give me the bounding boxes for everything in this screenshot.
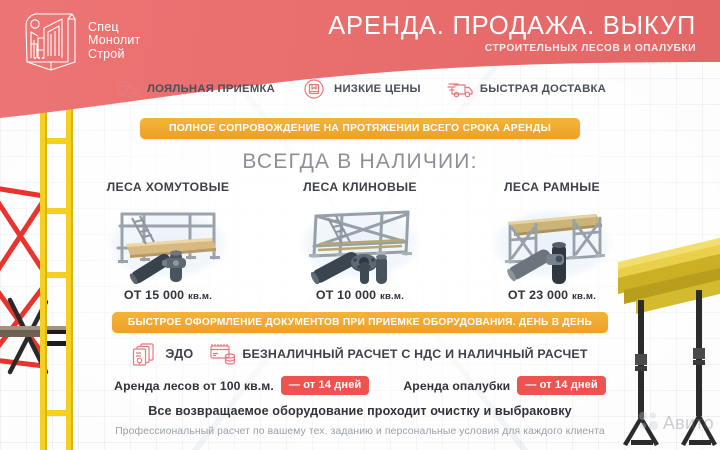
term-text: Аренда опалубки: [403, 379, 510, 393]
page-title: АРЕНДА. ПРОДАЖА. ВЫКУП: [328, 11, 696, 41]
note-professional-calculation: Профессиональный расчет по вашему тех. з…: [0, 426, 720, 437]
price-value: ОТ 23 000: [508, 288, 568, 302]
product-wedge-scaffolding: ЛЕСА КЛИНОВЫЕ: [270, 180, 450, 302]
price-tag-icon: [301, 78, 327, 100]
avito-watermark-text: Авито: [663, 413, 714, 434]
top-banner-text: ПОЛНОЕ СОПРОВОЖДЕНИЕ НА ПРОТЯЖЕНИИ ВСЕГО…: [169, 123, 551, 134]
delivery-truck-icon: [447, 78, 473, 100]
products-row: ЛЕСА ХОМУТОВЫЕ: [78, 180, 642, 302]
feature-loyal-acceptance: ЛОЯЛЬНАЯ ПРИЕМКА: [114, 78, 275, 100]
advertisement-banner: Спец Монолит Строй АРЕНДА. ПРОДАЖА. ВЫКУ…: [0, 0, 720, 450]
edo-documents-icon: [132, 342, 158, 366]
terms-row: Аренда лесов от 100 кв.м. — от 14 дней А…: [0, 376, 720, 395]
brand-name-line2: Монолит: [88, 33, 141, 47]
brand-name: Спец Монолит Строй: [88, 21, 141, 62]
payment-cashless-and-cash: БЕЗНАЛИЧНЫЙ РАСЧЕТ С НДС И НАЛИЧНЫЙ РАСЧ…: [209, 342, 587, 366]
term-formwork-rental: Аренда опалубки — от 14 дней: [403, 376, 605, 395]
avito-watermark: Авито: [638, 411, 714, 436]
price-unit: кв.м.: [188, 291, 212, 302]
payment-label: БЕЗНАЛИЧНЫЙ РАСЧЕТ С НДС И НАЛИЧНЫЙ РАСЧ…: [242, 347, 587, 361]
features-row: ЛОЯЛЬНАЯ ПРИЕМКА НИЗКИЕ ЦЕНЫ: [0, 78, 720, 100]
wedge-scaffolding-art: [276, 200, 444, 284]
stock-section-title: ВСЕГДА В НАЛИЧИИ:: [0, 150, 720, 174]
term-badge: — от 14 дней: [517, 376, 606, 395]
price-unit: кв.м.: [380, 291, 404, 302]
price-value: ОТ 15 000: [124, 288, 184, 302]
product-price: ОТ 15 000 кв.м.: [78, 288, 258, 302]
bottom-banner-text: БЫСТРОЕ ОФОРМЛЕНИЕ ДОКУМЕНТОВ ПРИ ПРИЕМК…: [128, 317, 592, 328]
product-clamp-scaffolding: ЛЕСА ХОМУТОВЫЕ: [78, 180, 258, 302]
card-cash-icon: [209, 342, 235, 366]
product-name: ЛЕСА ХОМУТОВЫЕ: [78, 180, 258, 194]
brand-logo[interactable]: Спец Монолит Строй: [22, 10, 141, 72]
payment-label: ЭДО: [165, 347, 193, 361]
feature-label: БЫСТРАЯ ДОСТАВКА: [480, 83, 606, 95]
term-badge: — от 14 дней: [281, 376, 370, 395]
term-scaffolding-rental: Аренда лесов от 100 кв.м. — от 14 дней: [114, 376, 369, 395]
frame-scaffolding-art: [468, 200, 636, 284]
feature-low-prices: НИЗКИЕ ЦЕНЫ: [301, 78, 421, 100]
clamp-scaffolding-art: [84, 200, 252, 284]
page-subtitle: СТРОИТЕЛЬНЫХ ЛЕСОВ И ОПАЛУБКИ: [328, 42, 696, 56]
feature-label: ЛОЯЛЬНАЯ ПРИЕМКА: [147, 83, 275, 95]
brand-name-line3: Строй: [88, 47, 125, 61]
price-value: ОТ 10 000: [316, 288, 376, 302]
building-crane-logo-icon: [22, 10, 80, 72]
product-name: ЛЕСА КЛИНОВЫЕ: [270, 180, 450, 194]
avito-logo-icon: [638, 411, 660, 436]
product-price: ОТ 10 000 кв.м.: [270, 288, 450, 302]
bottom-highlight-banner: БЫСТРОЕ ОФОРМЛЕНИЕ ДОКУМЕНТОВ ПРИ ПРИЕМК…: [112, 312, 608, 333]
header-title-block: АРЕНДА. ПРОДАЖА. ВЫКУП СТРОИТЕЛЬНЫХ ЛЕСО…: [328, 11, 696, 56]
note-cleaning: Все возвращаемое оборудование проходит о…: [0, 404, 720, 418]
feature-label: НИЗКИЕ ЦЕНЫ: [334, 83, 421, 95]
top-highlight-banner: ПОЛНОЕ СОПРОВОЖДЕНИЕ НА ПРОТЯЖЕНИИ ВСЕГО…: [140, 118, 580, 139]
payments-row: ЭДО БЕЗНАЛИЧНЫЙ РАСЧЕТ С НДС И НАЛИЧНЫЙ: [0, 342, 720, 366]
product-frame-scaffolding: ЛЕСА РАМНЫЕ: [462, 180, 642, 302]
product-name: ЛЕСА РАМНЫЕ: [462, 180, 642, 194]
feature-fast-delivery: БЫСТРАЯ ДОСТАВКА: [447, 78, 606, 100]
product-price: ОТ 23 000 кв.м.: [462, 288, 642, 302]
term-text: Аренда лесов от 100 кв.м.: [114, 379, 274, 393]
handshake-heart-icon: [114, 78, 140, 100]
brand-name-line1: Спец: [88, 20, 119, 34]
payment-edo: ЭДО: [132, 342, 193, 366]
price-unit: кв.м.: [572, 291, 596, 302]
